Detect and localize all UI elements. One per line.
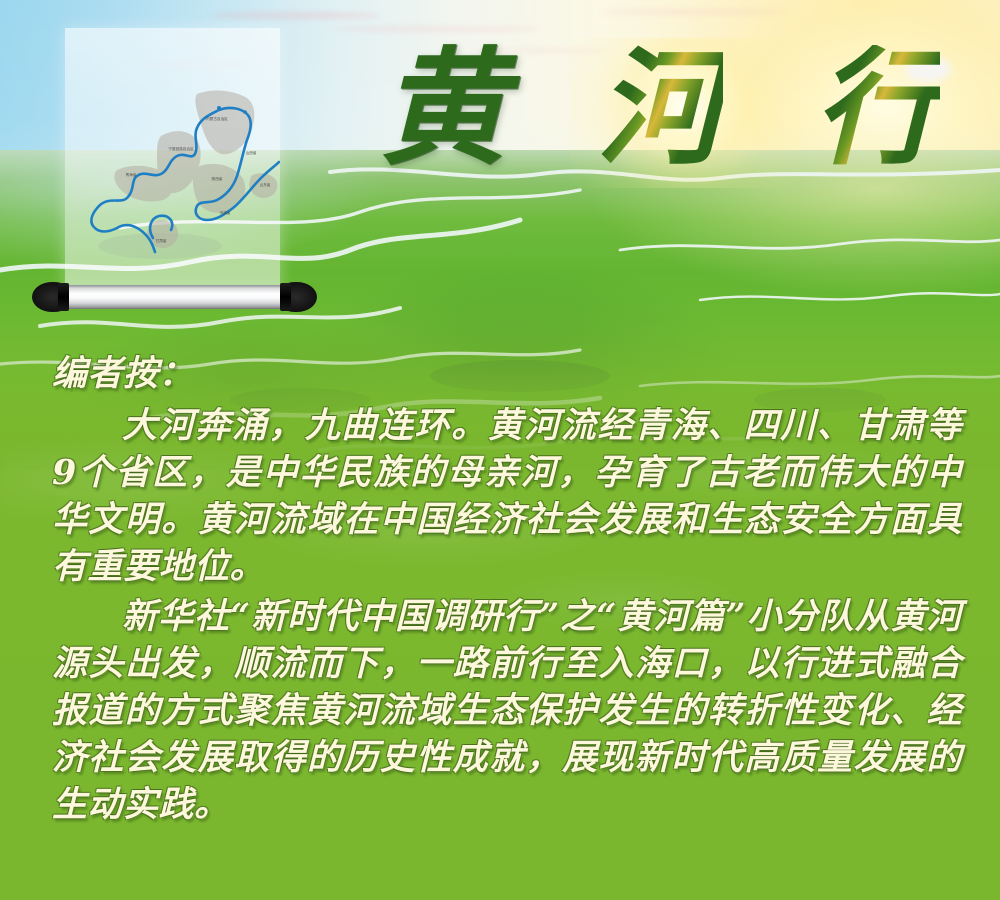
editorial-heading: 编者按： bbox=[52, 352, 962, 396]
province-label: 青海省 bbox=[126, 172, 137, 177]
yellow-river-basin-map: 内蒙古自治区 宁夏回族自治区 陕西省 山西省 青海省 甘肃省 河南省 山东省 bbox=[65, 28, 280, 293]
province-label: 山西省 bbox=[246, 150, 257, 155]
title-char-xing: 行 bbox=[814, 45, 940, 171]
poster-root: 黄 河 行 bbox=[0, 0, 1000, 900]
province-label: 内蒙古自治区 bbox=[206, 116, 228, 121]
map-svg: 内蒙古自治区 宁夏回族自治区 陕西省 山西省 青海省 甘肃省 河南省 山东省 bbox=[65, 28, 280, 293]
editorial-note: 编者按： 大河奔涌，九曲连环。黄河流经青海、四川、甘肃等9个省区，是中华民族的母… bbox=[0, 352, 1000, 828]
province-shapes bbox=[114, 91, 277, 248]
editorial-paragraph-2: 新华社“新时代中国调研行”之“黄河篇”小分队从黄河源头出发，顺流而下，一路前行至… bbox=[52, 593, 962, 828]
province-label: 宁夏回族自治区 bbox=[168, 146, 194, 151]
title-char-huang: 黄 bbox=[380, 45, 506, 171]
roller-bar bbox=[59, 285, 290, 309]
province-label: 甘肃省 bbox=[156, 238, 167, 243]
scroll-roller bbox=[32, 282, 317, 312]
province-label: 河南省 bbox=[220, 210, 231, 215]
poster-title: 黄 河 行 bbox=[380, 28, 940, 188]
roller-collar-right bbox=[280, 283, 291, 311]
province-label: 山东省 bbox=[260, 182, 271, 187]
title-char-he: 河 bbox=[597, 45, 723, 171]
roller-collar-left bbox=[58, 283, 69, 311]
yellow-river-upper-course bbox=[91, 206, 155, 252]
editorial-paragraph-1: 大河奔涌，九曲连环。黄河流经青海、四川、甘肃等9个省区，是中华民族的母亲河，孕育… bbox=[52, 402, 962, 590]
map-scroll-panel: 内蒙古自治区 宁夏回族自治区 陕西省 山西省 青海省 甘肃省 河南省 山东省 bbox=[65, 28, 280, 293]
province-label: 陕西省 bbox=[212, 176, 223, 181]
